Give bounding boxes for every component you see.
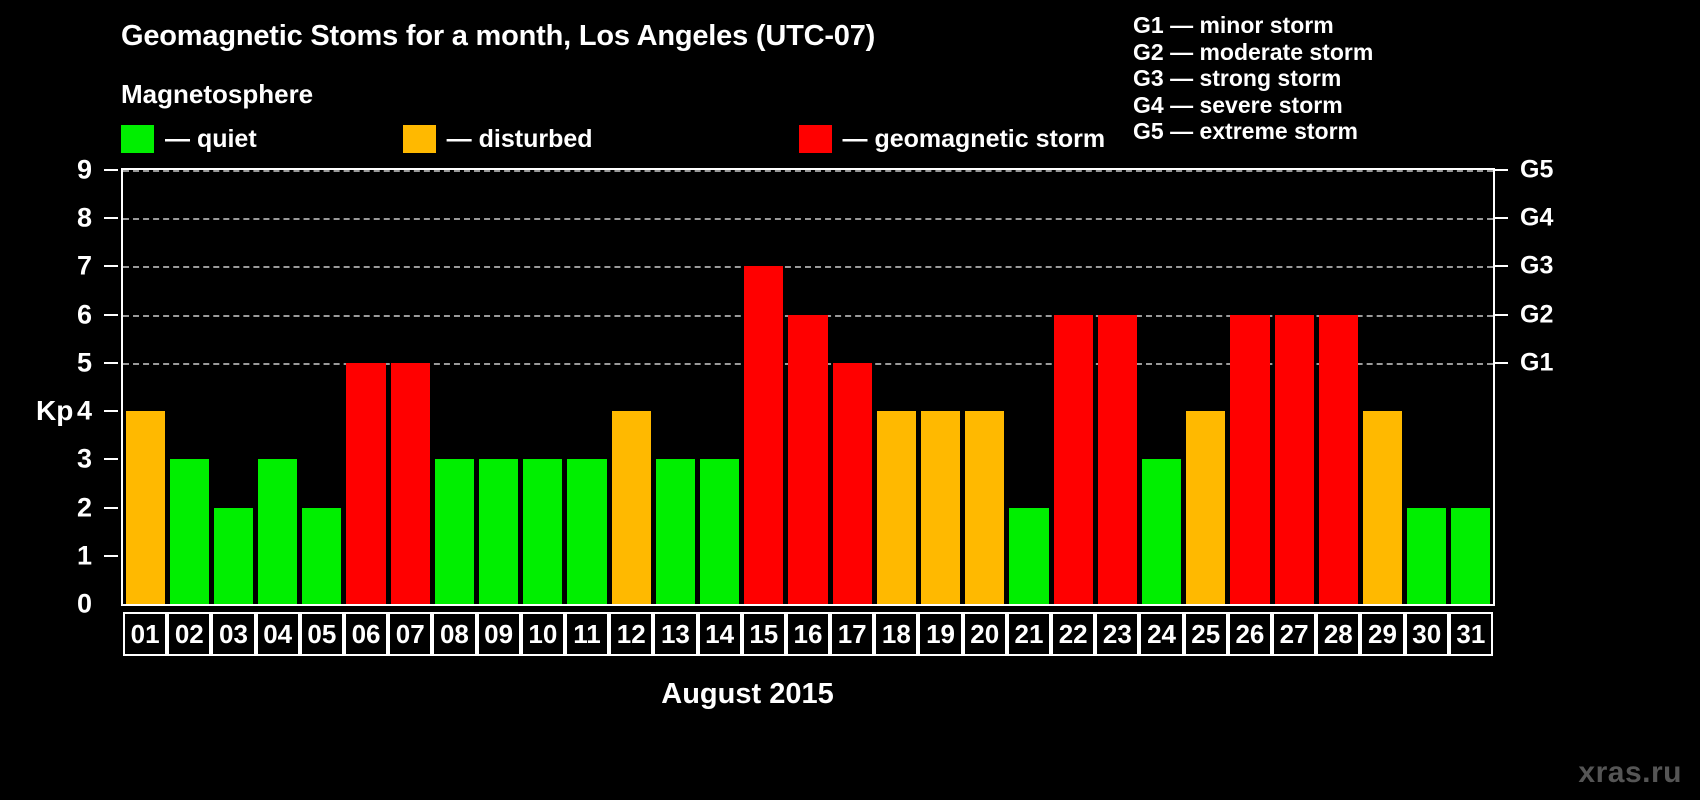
g-tick-mark-g4 <box>1495 217 1508 219</box>
y-axis: 0123456789 <box>0 168 118 606</box>
y-tick-label-3: 3 <box>77 444 92 475</box>
plot-inner <box>123 170 1493 604</box>
day-label-19[interactable]: 19 <box>918 612 962 656</box>
day-label-03[interactable]: 03 <box>211 612 255 656</box>
day-label-15[interactable]: 15 <box>742 612 786 656</box>
bar-day-21[interactable] <box>1009 508 1048 604</box>
bar-day-05[interactable] <box>302 508 341 604</box>
color-legend: — quiet— disturbed— geomagnetic storm <box>121 123 1105 155</box>
y-tick-label-6: 6 <box>77 299 92 330</box>
g-legend-row-g1: G1 — minor storm <box>1133 12 1593 39</box>
bar-day-11[interactable] <box>567 459 606 604</box>
bars-layer <box>123 170 1493 604</box>
bar-day-23[interactable] <box>1098 315 1137 604</box>
day-label-06[interactable]: 06 <box>344 612 388 656</box>
g-legend-row-g5: G5 — extreme storm <box>1133 118 1593 145</box>
y-tick-mark-7 <box>104 265 118 267</box>
day-label-05[interactable]: 05 <box>300 612 344 656</box>
bar-day-31[interactable] <box>1451 508 1490 604</box>
g-tick-label-g2: G2 <box>1520 300 1553 329</box>
y-tick-mark-6 <box>104 314 118 316</box>
y-tick-mark-3 <box>104 458 118 460</box>
g-tick-mark-g2 <box>1495 314 1508 316</box>
g-tick-mark-g3 <box>1495 265 1508 267</box>
bar-day-12[interactable] <box>612 411 651 604</box>
plot-area <box>121 168 1495 606</box>
day-label-13[interactable]: 13 <box>653 612 697 656</box>
bar-day-07[interactable] <box>391 363 430 604</box>
bar-day-22[interactable] <box>1054 315 1093 604</box>
day-label-12[interactable]: 12 <box>609 612 653 656</box>
bar-day-08[interactable] <box>435 459 474 604</box>
legend-swatch-disturbed <box>403 125 436 153</box>
g-scale-legend: G1 — minor stormG2 — moderate stormG3 — … <box>1133 12 1593 145</box>
day-label-24[interactable]: 24 <box>1139 612 1183 656</box>
x-axis-day-labels: 0102030405060708091011121314151617181920… <box>121 612 1495 656</box>
bar-day-20[interactable] <box>965 411 1004 604</box>
day-label-17[interactable]: 17 <box>830 612 874 656</box>
day-label-27[interactable]: 27 <box>1272 612 1316 656</box>
bar-day-01[interactable] <box>126 411 165 604</box>
g-legend-row-g4: G4 — severe storm <box>1133 92 1593 119</box>
bar-day-29[interactable] <box>1363 411 1402 604</box>
day-label-29[interactable]: 29 <box>1360 612 1404 656</box>
bar-day-09[interactable] <box>479 459 518 604</box>
g-tick-mark-g5 <box>1495 169 1508 171</box>
y-axis-title: Kp <box>36 395 73 427</box>
day-label-30[interactable]: 30 <box>1405 612 1449 656</box>
day-label-20[interactable]: 20 <box>963 612 1007 656</box>
bar-day-15[interactable] <box>744 266 783 604</box>
bar-day-18[interactable] <box>877 411 916 604</box>
y-tick-mark-4 <box>104 410 118 412</box>
day-label-25[interactable]: 25 <box>1184 612 1228 656</box>
bar-day-28[interactable] <box>1319 315 1358 604</box>
bar-day-04[interactable] <box>258 459 297 604</box>
g-tick-label-g5: G5 <box>1520 156 1553 185</box>
day-label-21[interactable]: 21 <box>1007 612 1051 656</box>
bar-day-17[interactable] <box>833 363 872 604</box>
legend-swatch-storm <box>799 125 832 153</box>
page-title: Geomagnetic Stoms for a month, Los Angel… <box>121 20 875 53</box>
bar-day-30[interactable] <box>1407 508 1446 604</box>
bar-day-16[interactable] <box>788 315 827 604</box>
y-tick-mark-1 <box>104 555 118 557</box>
y-tick-mark-8 <box>104 217 118 219</box>
y-tick-label-2: 2 <box>77 492 92 523</box>
series-label: Magnetosphere <box>121 79 313 110</box>
g-axis: G1G2G3G4G5 <box>1495 168 1615 606</box>
day-label-08[interactable]: 08 <box>432 612 476 656</box>
y-tick-mark-2 <box>104 507 118 509</box>
bar-day-10[interactable] <box>523 459 562 604</box>
day-label-09[interactable]: 09 <box>477 612 521 656</box>
g-legend-row-g2: G2 — moderate storm <box>1133 39 1593 66</box>
y-tick-label-9: 9 <box>77 155 92 186</box>
y-tick-mark-9 <box>104 169 118 171</box>
day-label-10[interactable]: 10 <box>521 612 565 656</box>
day-label-16[interactable]: 16 <box>786 612 830 656</box>
bar-day-27[interactable] <box>1275 315 1314 604</box>
day-label-02[interactable]: 02 <box>167 612 211 656</box>
bar-day-24[interactable] <box>1142 459 1181 604</box>
day-label-11[interactable]: 11 <box>565 612 609 656</box>
g-tick-label-g3: G3 <box>1520 252 1553 281</box>
bar-day-26[interactable] <box>1230 315 1269 604</box>
bar-day-13[interactable] <box>656 459 695 604</box>
bar-day-25[interactable] <box>1186 411 1225 604</box>
day-label-14[interactable]: 14 <box>698 612 742 656</box>
day-label-26[interactable]: 26 <box>1228 612 1272 656</box>
day-label-22[interactable]: 22 <box>1051 612 1095 656</box>
day-label-18[interactable]: 18 <box>874 612 918 656</box>
y-tick-mark-5 <box>104 362 118 364</box>
day-label-07[interactable]: 07 <box>388 612 432 656</box>
watermark: xras.ru <box>1578 756 1682 790</box>
x-axis-title: August 2015 <box>0 678 1495 711</box>
y-tick-label-0: 0 <box>77 589 92 620</box>
g-tick-label-g4: G4 <box>1520 204 1553 233</box>
g-legend-row-g3: G3 — strong storm <box>1133 65 1593 92</box>
g-tick-mark-g1 <box>1495 362 1508 364</box>
legend-swatch-quiet <box>121 125 154 153</box>
g-tick-label-g1: G1 <box>1520 348 1553 377</box>
legend-label: — quiet <box>165 125 257 154</box>
day-label-01[interactable]: 01 <box>123 612 167 656</box>
day-label-23[interactable]: 23 <box>1095 612 1139 656</box>
legend-label: — geomagnetic storm <box>843 125 1106 154</box>
day-label-28[interactable]: 28 <box>1316 612 1360 656</box>
legend-item-geomagneticstorm: — geomagnetic storm <box>799 125 1106 154</box>
bar-day-06[interactable] <box>346 363 385 604</box>
bar-day-19[interactable] <box>921 411 960 604</box>
bar-day-14[interactable] <box>700 459 739 604</box>
y-tick-label-5: 5 <box>77 347 92 378</box>
legend-item-quiet: — quiet <box>121 125 257 154</box>
y-tick-label-8: 8 <box>77 203 92 234</box>
y-tick-label-7: 7 <box>77 251 92 282</box>
y-tick-label-1: 1 <box>77 540 92 571</box>
bar-day-02[interactable] <box>170 459 209 604</box>
legend-label: — disturbed <box>447 125 593 154</box>
y-tick-label-4: 4 <box>77 396 92 427</box>
legend-item-disturbed: — disturbed <box>403 125 593 154</box>
day-label-04[interactable]: 04 <box>256 612 300 656</box>
bar-day-03[interactable] <box>214 508 253 604</box>
day-label-31[interactable]: 31 <box>1449 612 1493 656</box>
